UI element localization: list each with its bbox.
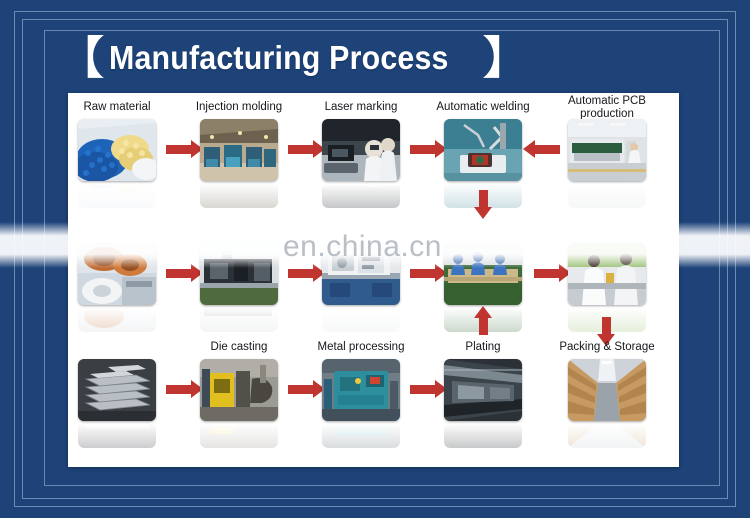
step-label: Automatic welding [431, 101, 535, 114]
step-thumbnail [200, 243, 278, 305]
arrow-right-icon [410, 269, 436, 278]
arrow-left-icon [534, 145, 560, 154]
arrow-right-icon [410, 385, 436, 394]
bracket-close-icon: 】 [482, 36, 535, 80]
step-thumbnail [444, 119, 522, 181]
reflection-art [78, 182, 156, 208]
step-thumbnail [568, 359, 646, 421]
arrow-right-icon [166, 385, 192, 394]
copper-coil-winding-icon [78, 243, 156, 305]
step-label: Automatic PCB production [555, 95, 659, 120]
thumbnail-reflection [200, 182, 278, 208]
step-thumbnail [78, 359, 156, 421]
process-row-middle [68, 217, 679, 342]
aluminium-ingots-icon [78, 359, 156, 421]
title-text: Manufacturing Process [109, 39, 449, 77]
process-row-top: Raw material [68, 93, 679, 218]
arrow-right-icon [166, 145, 192, 154]
process-row-bottom: Die casting [68, 333, 679, 458]
warehouse-aisle-icon [568, 359, 646, 421]
thumbnail-reflection [78, 306, 156, 332]
reflection-art [200, 182, 278, 208]
automatic-welding-robot-icon [444, 119, 522, 181]
thumbnail-reflection [78, 182, 156, 208]
thumbnail-reflection [568, 422, 646, 448]
thumbnail-reflection [322, 422, 400, 448]
step-label: Packing & Storage [555, 341, 659, 354]
step-thumbnail [322, 243, 400, 305]
conveyor-assembly-machine-icon [200, 243, 278, 305]
reflection-art [568, 422, 646, 448]
arrow-down-icon [479, 190, 488, 208]
thumbnail-reflection [200, 422, 278, 448]
bracket-open-icon: 【 [53, 36, 106, 80]
step-label: Plating [431, 341, 535, 354]
assembly-line-workers-icon [444, 243, 522, 305]
step-thumbnail [568, 119, 646, 181]
step-thumbnail [78, 243, 156, 305]
plating-line-tunnel-icon [444, 359, 522, 421]
reflection-art [322, 422, 400, 448]
step-thumbnail [444, 243, 522, 305]
arrow-right-icon [288, 269, 314, 278]
thumbnail-reflection [200, 306, 278, 332]
thumbnail-reflection [78, 422, 156, 448]
pcb-wave-solder-line-icon [568, 119, 646, 181]
laser-marking-station-icon [322, 119, 400, 181]
reflection-art [322, 306, 400, 332]
arrow-right-icon [410, 145, 436, 154]
testing-equipment-rack-icon [322, 243, 400, 305]
process-flow-panel: Raw material [68, 93, 679, 467]
step-thumbnail [200, 119, 278, 181]
arrow-right-icon [288, 385, 314, 394]
reflection-art [444, 422, 522, 448]
thumbnail-reflection [322, 306, 400, 332]
step-thumbnail [322, 119, 400, 181]
reflection-art [568, 182, 646, 208]
thumbnail-reflection [322, 182, 400, 208]
arrow-right-icon [288, 145, 314, 154]
step-label: Laser marking [309, 101, 413, 114]
reflection-art [78, 306, 156, 332]
arrow-right-icon [166, 269, 192, 278]
reflection-art [200, 422, 278, 448]
step-label: Metal processing [309, 341, 413, 354]
step-label: Raw material [68, 101, 169, 114]
thumbnail-reflection [444, 422, 522, 448]
page-title: 【 Manufacturing Process 】 [56, 36, 531, 80]
step-label: Injection molding [187, 101, 291, 114]
injection-molding-hall-icon [200, 119, 278, 181]
plastic-pellets-icon [78, 119, 156, 181]
step-thumbnail [322, 359, 400, 421]
step-thumbnail [78, 119, 156, 181]
cnc-metal-machine-icon [322, 359, 400, 421]
step-thumbnail [568, 243, 646, 305]
die-casting-machine-icon [200, 359, 278, 421]
reflection-art [200, 306, 278, 332]
thumbnail-reflection [568, 182, 646, 208]
arrow-right-icon [534, 269, 560, 278]
step-thumbnail [200, 359, 278, 421]
reflection-art [322, 182, 400, 208]
poster-background: 【 Manufacturing Process 】 Raw material [0, 0, 750, 518]
step-label: Die casting [187, 341, 291, 354]
step-thumbnail [444, 359, 522, 421]
qc-inspection-lab-icon [568, 243, 646, 305]
reflection-art [78, 422, 156, 448]
